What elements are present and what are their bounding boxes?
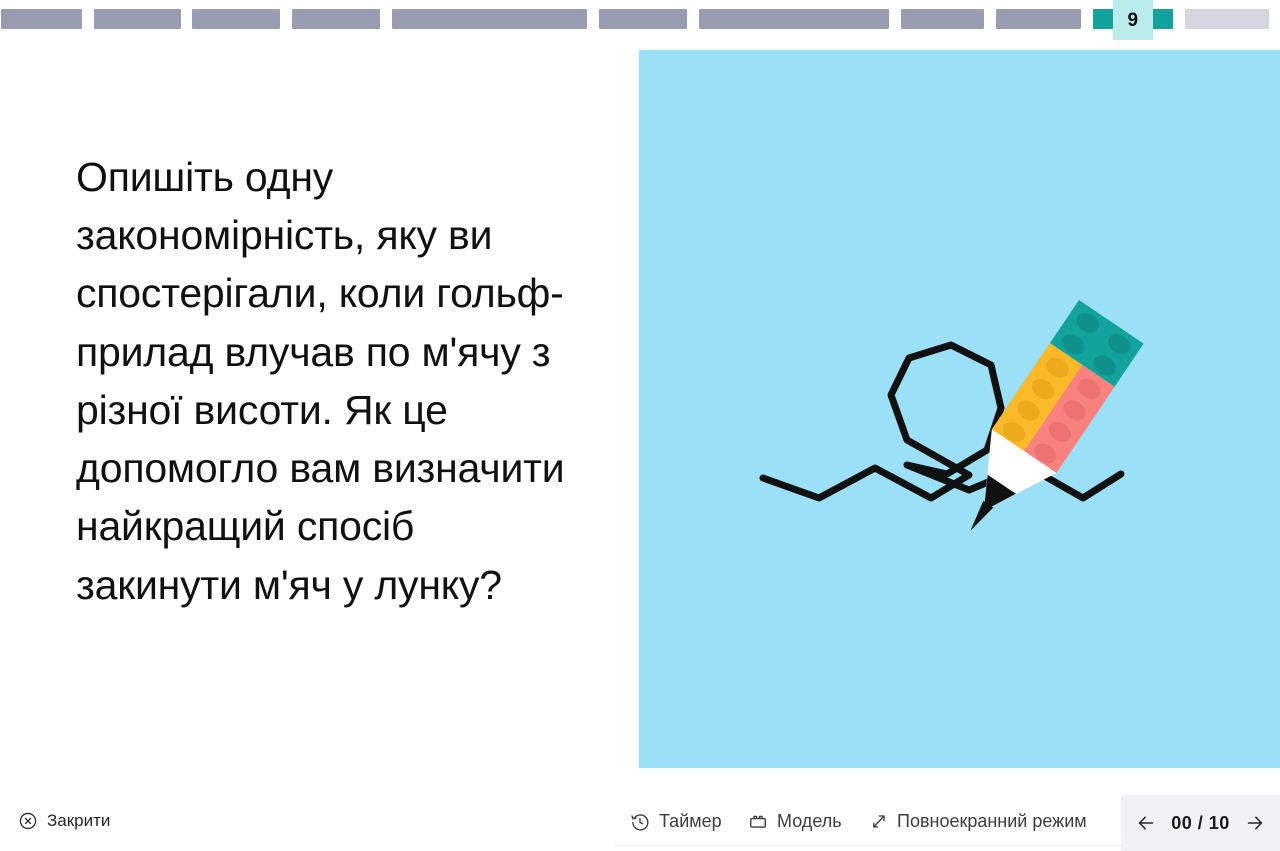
progress-bar: 9 — [0, 0, 1280, 40]
fullscreen-button[interactable]: Повноекранний режим — [868, 811, 1087, 832]
current-step-badge: 9 — [1113, 0, 1153, 40]
progress-segment-7[interactable] — [699, 0, 889, 40]
model-button[interactable]: Модель — [748, 811, 842, 832]
page-indicator: 00 / 10 — [1171, 813, 1230, 834]
progress-segment-fill — [1, 9, 82, 29]
fullscreen-button-label: Повноекранний режим — [897, 811, 1087, 832]
progress-segment-3[interactable] — [192, 0, 280, 40]
presentation-viewer: 9 Опишіть одну закономірність, яку ви сп… — [0, 0, 1280, 851]
lego-pencil-doodle-graphic — [639, 50, 1280, 768]
progress-segment-9[interactable] — [996, 0, 1081, 40]
bottom-toolbar: Закрити Таймер Модель — [0, 795, 1280, 851]
progress-segment-fill — [192, 9, 280, 29]
progress-segment-11[interactable] — [1185, 0, 1269, 40]
toolbar-divider — [615, 845, 1195, 846]
slide-content: Опишіть одну закономірність, яку ви спос… — [0, 40, 1280, 795]
lego-brick-icon — [748, 812, 768, 832]
close-button[interactable]: Закрити — [18, 811, 110, 831]
progress-segment-6[interactable] — [599, 0, 687, 40]
progress-segment-5[interactable] — [392, 0, 587, 40]
progress-segment-fill — [1185, 9, 1269, 29]
expand-arrows-icon — [868, 812, 888, 832]
close-circle-icon — [18, 811, 38, 831]
progress-segment-fill — [392, 9, 587, 29]
progress-segment-fill — [94, 9, 181, 29]
progress-segment-fill — [901, 9, 984, 29]
model-button-label: Модель — [777, 811, 842, 832]
progress-segment-fill — [996, 9, 1081, 29]
progress-segment-fill — [599, 9, 687, 29]
progress-segment-8[interactable] — [901, 0, 984, 40]
progress-segment-4[interactable] — [292, 0, 380, 40]
prev-page-button[interactable] — [1134, 811, 1158, 835]
progress-segment-10[interactable]: 9 — [1093, 0, 1173, 40]
progress-segment-2[interactable] — [94, 0, 181, 40]
close-button-label: Закрити — [47, 811, 110, 831]
progress-segment-fill — [699, 9, 889, 29]
timer-icon — [630, 812, 650, 832]
progress-segment-1[interactable] — [1, 0, 82, 40]
slide-prompt-text: Опишіть одну закономірність, яку ви спос… — [76, 148, 576, 614]
page-navigation: 00 / 10 — [1121, 795, 1280, 851]
timer-button[interactable]: Таймер — [630, 811, 722, 832]
timer-button-label: Таймер — [659, 811, 722, 832]
slide-illustration — [639, 50, 1280, 768]
next-page-button[interactable] — [1243, 811, 1267, 835]
progress-segment-fill — [292, 9, 380, 29]
